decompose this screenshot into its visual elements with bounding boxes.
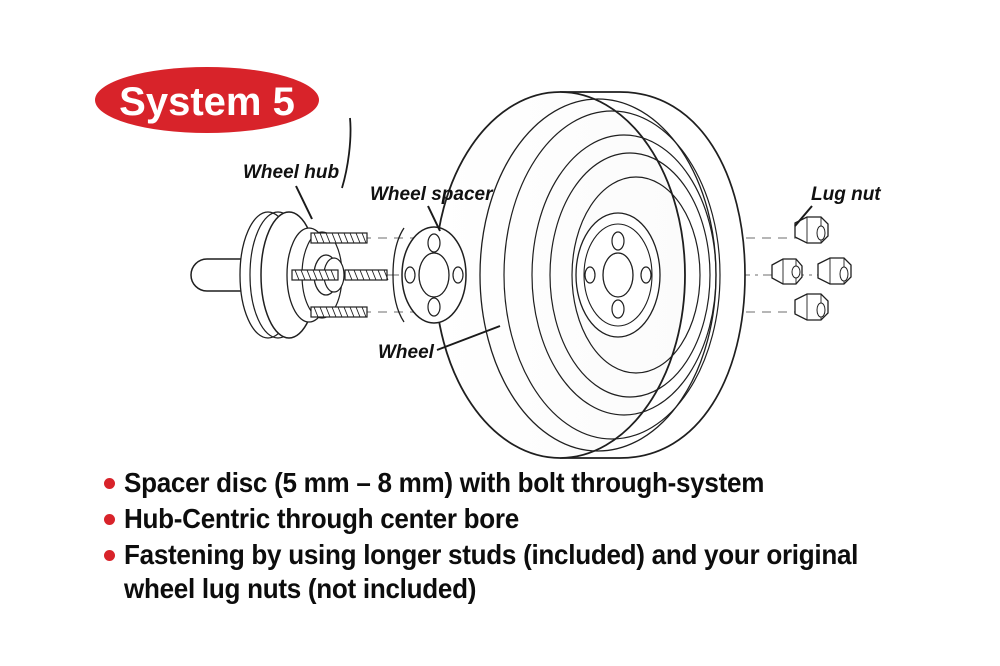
wheel-center-bore bbox=[603, 253, 633, 297]
lug-nut-middle-left bbox=[772, 259, 802, 284]
lug-nut-middle-right bbox=[818, 258, 851, 284]
diagram-page: System 5 bbox=[0, 0, 1000, 666]
feature-text: Fastening by using longer studs (include… bbox=[124, 538, 858, 606]
feature-text: Spacer disc (5 mm – 8 mm) with bolt thro… bbox=[124, 466, 764, 500]
lug-nut-bottom bbox=[795, 294, 828, 320]
wheel-bolt-hole-top bbox=[612, 232, 624, 250]
leader-badge-curve bbox=[342, 118, 351, 188]
bullet-dot-icon bbox=[104, 514, 115, 525]
spacer-bolt-hole-top bbox=[428, 234, 440, 252]
callout-wheel-hub: Wheel hub bbox=[243, 162, 339, 183]
spacer-center-bore bbox=[419, 253, 449, 297]
callout-lug-nut: Lug nut bbox=[811, 184, 881, 205]
bullet-dot-icon bbox=[104, 550, 115, 561]
system-badge: System 5 bbox=[95, 67, 319, 133]
list-item: Spacer disc (5 mm – 8 mm) with bolt thro… bbox=[104, 466, 934, 500]
callout-wheel: Wheel bbox=[378, 342, 435, 363]
hub-stud-upper bbox=[311, 233, 367, 243]
spacer-bolt-hole-left bbox=[405, 267, 415, 283]
list-item: Hub-Centric through center bore bbox=[104, 502, 934, 536]
feature-list: Spacer disc (5 mm – 8 mm) with bolt thro… bbox=[104, 466, 934, 608]
wheel-part bbox=[435, 92, 745, 458]
wheel-bolt-hole-right bbox=[641, 267, 651, 283]
wheel-bolt-hole-bottom bbox=[612, 300, 624, 318]
callout-wheel-spacer: Wheel spacer bbox=[370, 184, 494, 205]
feature-text: Hub-Centric through center bore bbox=[124, 502, 519, 536]
leader-wheel-hub bbox=[296, 186, 312, 219]
lug-nuts-group bbox=[772, 217, 851, 320]
spacer-bolt-hole-bottom bbox=[428, 298, 440, 316]
hub-stud-lower bbox=[311, 307, 367, 317]
wheel-hub-part bbox=[191, 212, 388, 338]
list-item: Fastening by using longer studs (include… bbox=[104, 538, 934, 606]
wheel-spacer-part bbox=[393, 227, 466, 323]
spacer-bolt-hole-right bbox=[453, 267, 463, 283]
wheel-bolt-hole-left bbox=[585, 267, 595, 283]
bullet-dot-icon bbox=[104, 478, 115, 489]
badge-label: System 5 bbox=[119, 80, 295, 124]
